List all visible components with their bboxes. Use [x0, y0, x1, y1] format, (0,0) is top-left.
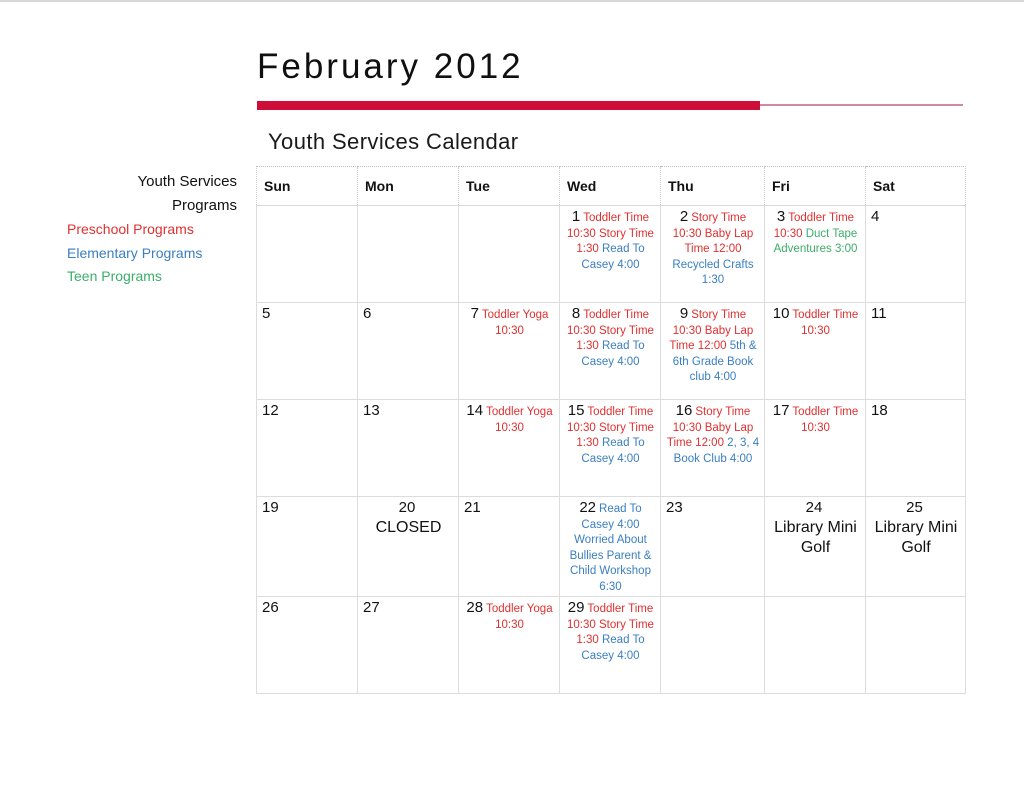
calendar-body: 1Toddler Time 10:30 Story Time 1:30 Read…: [257, 206, 966, 694]
day-number: 29: [568, 599, 585, 616]
day-number: 8: [572, 305, 580, 322]
page-title: February 2012: [257, 47, 524, 87]
day-events: Toddler Yoga 10:30: [486, 603, 553, 631]
day-number: 9: [680, 305, 688, 322]
calendar-day-cell[interactable]: 27: [358, 597, 459, 694]
weekday-header-wed: Wed: [560, 167, 661, 206]
event-elementary[interactable]: Worried About Bullies Parent & Child Wor…: [570, 534, 652, 593]
calendar-day-cell[interactable]: 13: [358, 400, 459, 497]
day-events: Toddler Yoga 10:30: [486, 406, 553, 434]
weekday-header-tue: Tue: [459, 167, 560, 206]
day-number: 2: [680, 208, 688, 225]
calendar-day-cell[interactable]: 11: [866, 303, 966, 400]
day-note: Library Mini Golf: [770, 518, 861, 558]
calendar-day-cell[interactable]: 3Toddler Time 10:30 Duct Tape Adventures…: [765, 206, 866, 303]
day-number: 18: [871, 402, 888, 419]
day-number: 1: [572, 208, 580, 225]
calendar-day-cell[interactable]: 6: [358, 303, 459, 400]
day-events: Toddler Time 10:30 Story Time 1:30 Read …: [567, 309, 654, 368]
calendar-day-cell[interactable]: 21: [459, 497, 560, 597]
calendar-day-cell[interactable]: 2Story Time 10:30 Baby Lap Time 12:00 Re…: [661, 206, 765, 303]
day-number: 6: [363, 305, 371, 322]
day-number: 19: [262, 499, 279, 516]
calendar-day-cell[interactable]: 28Toddler Yoga 10:30: [459, 597, 560, 694]
calendar-day-cell[interactable]: 10Toddler Time 10:30: [765, 303, 866, 400]
calendar-day-cell[interactable]: 19: [257, 497, 358, 597]
calendar-day-cell-empty: [765, 597, 866, 694]
legend-item-teen: Teen Programs: [20, 265, 237, 289]
calendar-day-cell[interactable]: 16Story Time 10:30 Baby Lap Time 12:00 2…: [661, 400, 765, 497]
day-number: 21: [464, 499, 481, 516]
calendar-day-cell[interactable]: 8Toddler Time 10:30 Story Time 1:30 Read…: [560, 303, 661, 400]
calendar-header-row: Sun Mon Tue Wed Thu Fri Sat: [257, 167, 966, 206]
day-number: 11: [871, 305, 887, 322]
weekday-header-fri: Fri: [765, 167, 866, 206]
event-preschool[interactable]: Toddler Yoga 10:30: [486, 406, 553, 434]
accent-rule-thin: [760, 104, 963, 106]
legend: Youth Services Programs Preschool Progra…: [20, 170, 237, 289]
calendar-week-row: 121314Toddler Yoga 10:3015Toddler Time 1…: [257, 400, 966, 497]
day-events: Read To Casey 4:00 Worried About Bullies…: [570, 503, 652, 593]
calendar-day-cell[interactable]: 26: [257, 597, 358, 694]
calendar-day-cell[interactable]: 23: [661, 497, 765, 597]
day-events: Toddler Time 10:30: [792, 309, 858, 337]
day-number: 23: [666, 499, 683, 516]
day-number: 13: [363, 402, 380, 419]
calendar-table: Sun Mon Tue Wed Thu Fri Sat 1Toddler Tim…: [256, 166, 966, 694]
calendar-day-cell-empty: [661, 597, 765, 694]
calendar-week-row: 1920CLOSED2122Read To Casey 4:00 Worried…: [257, 497, 966, 597]
calendar-day-cell[interactable]: 15Toddler Time 10:30 Story Time 1:30 Rea…: [560, 400, 661, 497]
calendar-day-cell[interactable]: 4: [866, 206, 966, 303]
calendar-subtitle: Youth Services Calendar: [268, 129, 519, 155]
event-preschool[interactable]: Toddler Time 10:30: [792, 406, 858, 434]
day-number: 27: [363, 599, 380, 616]
day-number: 25: [906, 499, 923, 516]
calendar-day-cell[interactable]: 22Read To Casey 4:00 Worried About Bulli…: [560, 497, 661, 597]
weekday-header-mon: Mon: [358, 167, 459, 206]
day-number: 10: [773, 305, 790, 322]
day-number: 15: [568, 402, 585, 419]
calendar-day-cell-empty: [257, 206, 358, 303]
day-number: 16: [676, 402, 693, 419]
calendar-day-cell[interactable]: 18: [866, 400, 966, 497]
day-number: 20: [399, 499, 416, 516]
calendar-day-cell[interactable]: 29Toddler Time 10:30 Story Time 1:30 Rea…: [560, 597, 661, 694]
calendar-day-cell[interactable]: 20CLOSED: [358, 497, 459, 597]
calendar-day-cell[interactable]: 12: [257, 400, 358, 497]
day-number: 14: [466, 402, 483, 419]
day-note: Library Mini Golf: [871, 518, 961, 558]
event-elementary[interactable]: Recycled Crafts 1:30: [672, 259, 753, 287]
event-preschool[interactable]: Toddler Time 10:30: [792, 309, 858, 337]
calendar-day-cell-empty: [358, 206, 459, 303]
legend-item-elementary: Elementary Programs: [20, 242, 237, 266]
calendar-day-cell[interactable]: 7Toddler Yoga 10:30: [459, 303, 560, 400]
calendar-day-cell-empty: [866, 597, 966, 694]
day-number: 7: [471, 305, 479, 322]
calendar-day-cell[interactable]: 24Library Mini Golf: [765, 497, 866, 597]
day-number: 5: [262, 305, 270, 322]
calendar-day-cell[interactable]: 14Toddler Yoga 10:30: [459, 400, 560, 497]
day-events: Toddler Time 10:30 Duct Tape Adventures …: [774, 212, 858, 255]
page-top-rule: [0, 0, 1024, 2]
calendar-day-cell-empty: [459, 206, 560, 303]
accent-rule-thick: [257, 101, 760, 110]
calendar-day-cell[interactable]: 25Library Mini Golf: [866, 497, 966, 597]
event-preschool[interactable]: Toddler Yoga 10:30: [482, 309, 549, 337]
calendar-day-cell[interactable]: 1Toddler Time 10:30 Story Time 1:30 Read…: [560, 206, 661, 303]
day-events: Toddler Time 10:30: [792, 406, 858, 434]
day-note: CLOSED: [363, 518, 454, 538]
day-number: 26: [262, 599, 279, 616]
day-number: 22: [579, 499, 596, 516]
legend-heading-line2: Programs: [20, 194, 237, 218]
calendar-day-cell[interactable]: 5: [257, 303, 358, 400]
event-preschool[interactable]: Toddler Yoga 10:30: [486, 603, 553, 631]
calendar-day-cell[interactable]: 9Story Time 10:30 Baby Lap Time 12:00 5t…: [661, 303, 765, 400]
legend-heading-line1: Youth Services: [20, 170, 237, 194]
calendar-day-cell[interactable]: 17Toddler Time 10:30: [765, 400, 866, 497]
weekday-header-sun: Sun: [257, 167, 358, 206]
day-events: Toddler Yoga 10:30: [482, 309, 549, 337]
day-number: 3: [777, 208, 785, 225]
day-number: 24: [806, 499, 823, 516]
calendar-week-row: 262728Toddler Yoga 10:3029Toddler Time 1…: [257, 597, 966, 694]
day-number: 12: [262, 402, 279, 419]
weekday-header-sat: Sat: [866, 167, 966, 206]
day-number: 28: [466, 599, 483, 616]
calendar-week-row: 567Toddler Yoga 10:308Toddler Time 10:30…: [257, 303, 966, 400]
day-number: 4: [871, 208, 879, 225]
legend-item-preschool: Preschool Programs: [20, 218, 237, 242]
calendar-week-row: 1Toddler Time 10:30 Story Time 1:30 Read…: [257, 206, 966, 303]
weekday-header-thu: Thu: [661, 167, 765, 206]
day-events: Toddler Time 10:30 Story Time 1:30 Read …: [567, 212, 654, 271]
day-number: 17: [773, 402, 790, 419]
